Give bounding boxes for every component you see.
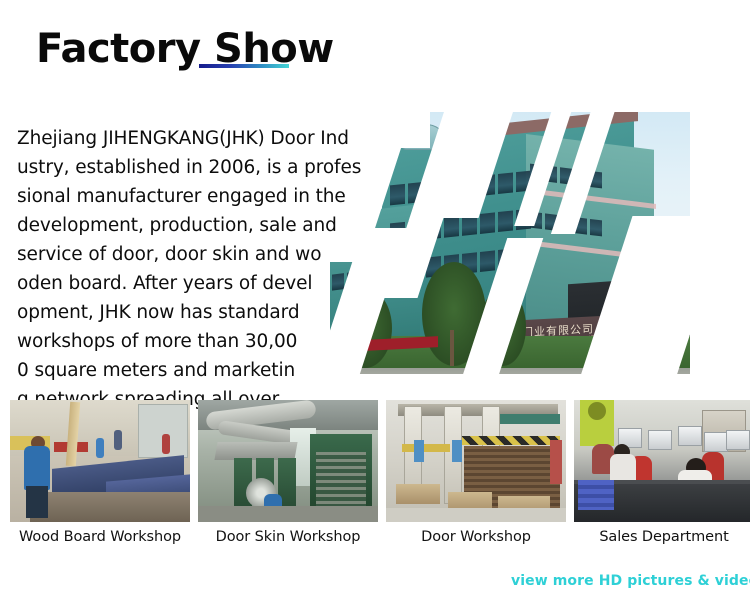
tree-trunk	[450, 330, 454, 366]
door-workshop-image[interactable]	[386, 400, 566, 522]
thumbnail-cell-door[interactable]: Door Workshop	[386, 400, 566, 545]
title-underline-accent	[199, 64, 289, 68]
company-intro-paragraph: Zhejiang JIHENGKANG(JHK) Door Ind ustry,…	[17, 124, 437, 443]
thumbnail-cell-sales[interactable]: Sales Department	[574, 400, 750, 545]
thumbnail-caption: Door Workshop	[386, 529, 566, 545]
thumbnail-cell-door-skin[interactable]: Door Skin Workshop	[198, 400, 378, 545]
thumbnail-caption: Door Skin Workshop	[198, 529, 378, 545]
view-more-link[interactable]: view more HD pictures & video	[511, 570, 750, 591]
workshop-thumbnail-strip: Wood Board Workshop Door Skin Workshop D…	[10, 400, 740, 545]
thumbnail-caption: Sales Department	[574, 529, 750, 545]
door-skin-workshop-image[interactable]	[198, 400, 378, 522]
wood-board-workshop-image[interactable]	[10, 400, 190, 522]
thumbnail-caption: Wood Board Workshop	[10, 529, 190, 545]
view-more-label: view more HD pictures & video	[511, 573, 750, 589]
thumbnail-cell-wood-board[interactable]: Wood Board Workshop	[10, 400, 190, 545]
sales-department-image[interactable]	[574, 400, 750, 522]
